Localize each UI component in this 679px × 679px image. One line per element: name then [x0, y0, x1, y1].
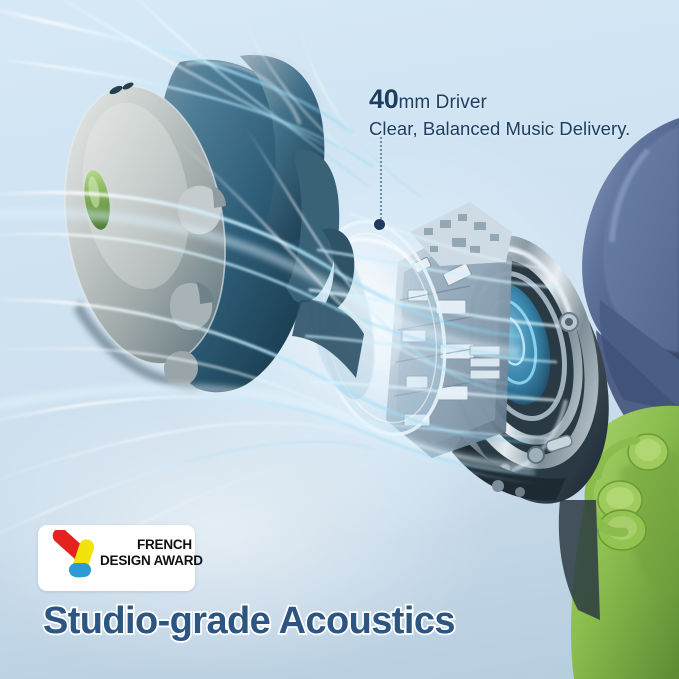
product-marketing-image: 40mm Driver Clear, Balanced Music Delive… [0, 0, 679, 679]
driver-callout-subtitle: Clear, Balanced Music Delivery. [369, 120, 630, 139]
award-badge-text: FRENCH DESIGN AWARD [100, 537, 192, 569]
driver-size-value: 40 [369, 84, 398, 114]
award-badge: FRENCH DESIGN AWARD [38, 525, 195, 591]
page-title: Studio-grade Acoustics [43, 600, 455, 643]
award-badge-line2: DESIGN AWARD [100, 553, 192, 569]
callout-anchor-dot [374, 219, 385, 230]
driver-callout: 40mm Driver Clear, Balanced Music Delive… [369, 86, 630, 139]
callout-leader-line [380, 137, 382, 223]
left-earcup [46, 54, 354, 392]
driver-callout-title: 40mm Driver [369, 86, 630, 113]
award-badge-line1: FRENCH [100, 537, 192, 553]
driver-size-unit: mm Driver [398, 92, 487, 113]
